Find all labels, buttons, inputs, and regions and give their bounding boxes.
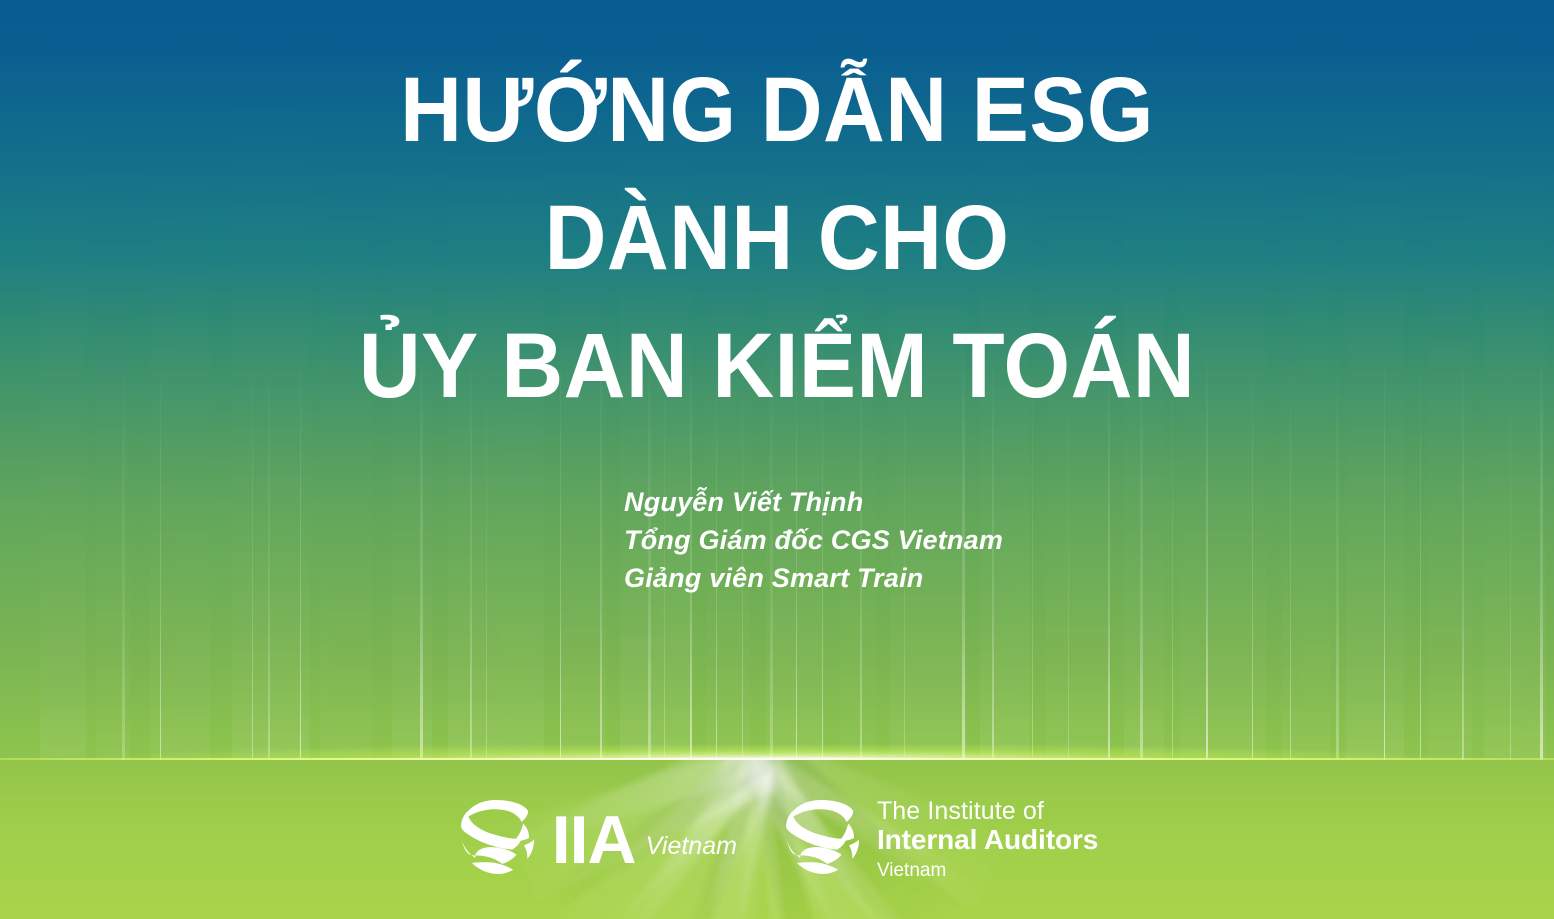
- globe-icon: [456, 795, 540, 884]
- title-slide: HƯỚNG DẪN ESG DÀNH CHO ỦY BAN KIỂM TOÁN …: [0, 0, 1554, 919]
- iia-vietnam-logo: IIA Vietnam: [456, 795, 737, 884]
- institute-line-1: The Institute of: [877, 798, 1098, 825]
- presenter-info: Nguyễn Viết Thịnh Tổng Giám đốc CGS Viet…: [624, 483, 1003, 597]
- institute-line-2: Internal Auditors: [877, 825, 1098, 855]
- presenter-affiliation: Giảng viên Smart Train: [624, 559, 1003, 597]
- logo-bar: IIA Vietnam The Institute o: [0, 795, 1554, 910]
- background-light-hairlines: [0, 0, 1554, 762]
- presenter-name: Nguyễn Viết Thịnh: [624, 483, 1003, 521]
- iia-wordmark: IIA: [552, 806, 636, 874]
- globe-icon: [781, 795, 865, 884]
- presenter-role: Tổng Giám đốc CGS Vietnam: [624, 521, 1003, 559]
- institute-line-3: Vietnam: [877, 861, 1098, 882]
- institute-internal-auditors-logo: The Institute of Internal Auditors Vietn…: [781, 795, 1098, 884]
- iia-subtitle: Vietnam: [646, 831, 737, 861]
